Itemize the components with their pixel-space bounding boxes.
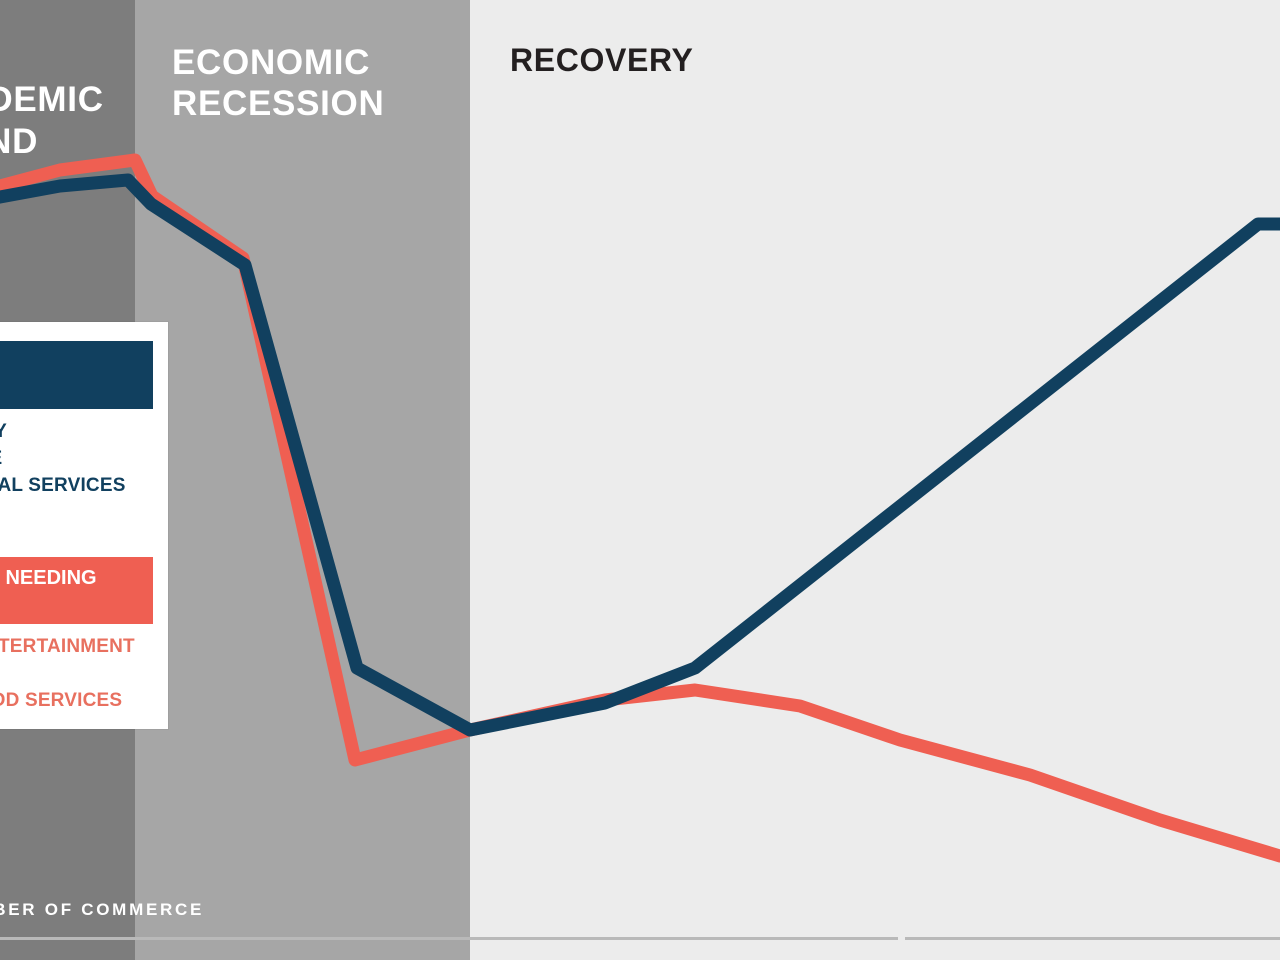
legend-item: HEALTHCARE xyxy=(0,446,141,473)
chart-canvas: PRE- PANDEMIC TREND ECONOMIC RECESSION R… xyxy=(0,0,1280,960)
legend-header-businesses-needing-assistance: BUSINESSES NEEDING ASSISTANCE xyxy=(0,557,153,625)
chart-legend: RISING INDUSTRIES TECHNOLOGY HEALTHCARE … xyxy=(0,322,168,729)
legend-items-businesses-needing-assistance: TRAVEL & ENTERTAINMENT HOSPITALITY RETAI… xyxy=(0,624,168,729)
legend-item: HOSPITALITY xyxy=(0,661,141,688)
legend-items-rising-industries: TECHNOLOGY HEALTHCARE PROFESSIONAL SERVI… xyxy=(0,409,168,557)
legend-item: RETAIL & FOOD SERVICES xyxy=(0,688,141,715)
series-line-rising-industries xyxy=(0,180,1280,730)
legend-header-rising-industries: RISING INDUSTRIES xyxy=(0,341,153,409)
footer-source-attribution: U.S. CHAMBER OF COMMERCE xyxy=(0,900,204,920)
legend-item: LOGISTICS xyxy=(0,500,141,527)
series-line-businesses-needing-assistance xyxy=(0,160,1280,856)
legend-group-rising-industries: RISING INDUSTRIES TECHNOLOGY HEALTHCARE … xyxy=(0,341,168,557)
legend-item: PROFESSIONAL SERVICES xyxy=(0,473,141,500)
line-chart-plot xyxy=(0,0,1280,960)
axis-tick-mark xyxy=(898,932,905,945)
legend-item: TECHNOLOGY xyxy=(0,419,141,446)
axis-baseline xyxy=(0,937,1280,940)
legend-item: TRAVEL & ENTERTAINMENT xyxy=(0,634,141,661)
legend-group-businesses-needing-assistance: BUSINESSES NEEDING ASSISTANCE TRAVEL & E… xyxy=(0,557,168,730)
